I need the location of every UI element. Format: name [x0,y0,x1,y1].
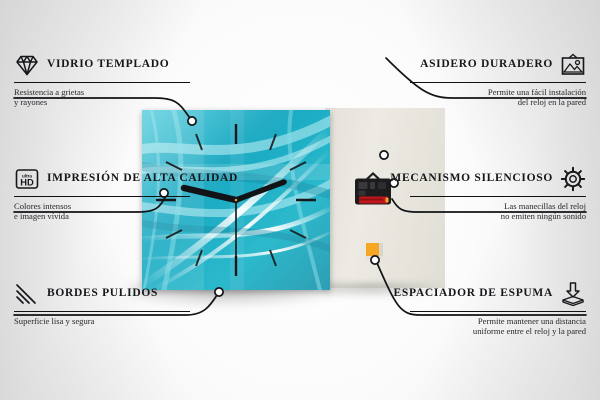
feature-description: Resistencia a grietas y rayones [14,87,190,108]
feature-description: Permite mantener una distancia uniforme … [410,316,586,337]
feature-description: Superficie lisa y segura [14,316,190,327]
feature-asidero-duradero: ASIDERO DURADERO Permite una fácil insta… [410,52,586,108]
feature-divider [14,196,190,197]
feature-divider [410,82,586,83]
feature-title: ESPACIADOR DE ESPUMA [394,287,553,301]
feature-description: Permite una fácil instalación del reloj … [410,87,586,108]
polished-edges-icon [14,281,40,307]
feature-header: ESPACIADOR DE ESPUMA [410,281,586,307]
feature-vidrio-templado: VIDRIO TEMPLADO Resistencia a grietas y … [14,52,190,108]
picture-hanger-icon [560,52,586,78]
feature-title: ASIDERO DURADERO [420,58,553,72]
feature-title: MECANISMO SILENCIOSO [390,172,553,186]
feature-header: ultra HD IMPRESIÓN DE ALTA CALIDAD [14,166,190,192]
feature-divider [410,196,586,197]
feature-bordes-pulidos: BORDES PULIDOS Superficie lisa y segura [14,281,190,326]
feature-title: BORDES PULIDOS [47,287,158,301]
ultra-hd-badge-icon: ultra HD [14,166,40,192]
feature-title: IMPRESIÓN DE ALTA CALIDAD [47,172,238,186]
feature-description: Colores intensos e imagen vívida [14,201,190,222]
feature-header: VIDRIO TEMPLADO [14,52,190,78]
feature-header: ASIDERO DURADERO [410,52,586,78]
feature-header: MECANISMO SILENCIOSO [410,166,586,192]
feature-description: Las manecillas del reloj no emiten ningú… [410,201,586,222]
feature-divider [410,311,586,312]
gear-icon [560,166,586,192]
diamond-icon [14,52,40,78]
feature-divider [14,82,190,83]
infographic-canvas: VIDRIO TEMPLADO Resistencia a grietas y … [0,0,600,400]
hd-label: HD [20,177,34,188]
feature-title: VIDRIO TEMPLADO [47,58,169,72]
clock-mechanism [352,172,394,210]
foam-spacer-piece [366,243,383,260]
feature-divider [14,311,190,312]
feature-header: BORDES PULIDOS [14,281,190,307]
foam-spacer-icon [560,281,586,307]
feature-espaciador-espuma: ESPACIADOR DE ESPUMA Permite mantener un… [410,281,586,337]
feature-impresion-alta-calidad: ultra HD IMPRESIÓN DE ALTA CALIDAD Color… [14,166,190,222]
feature-mecanismo-silencioso: MECANISMO SILENCIOSO [410,166,586,222]
